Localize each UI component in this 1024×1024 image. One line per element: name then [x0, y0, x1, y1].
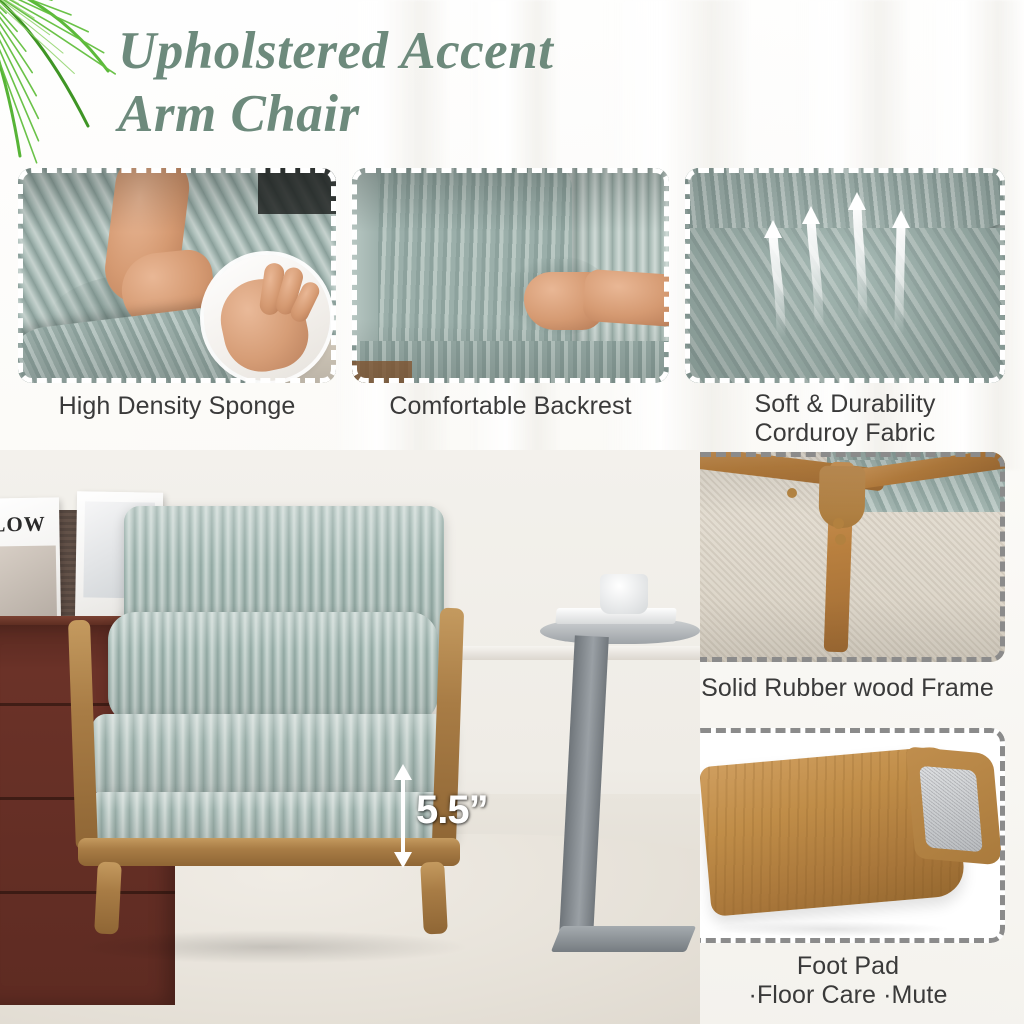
seat-thickness-dimension: 5.5” — [392, 764, 414, 873]
infographic-canvas: Upholstered Accent Arm Chair — [0, 0, 1024, 1024]
airflow-arrows-icon — [685, 168, 1005, 383]
feature-photo-corduroy-fabric — [685, 168, 1005, 383]
caption-corduroy-fabric: Soft & Durability Corduroy Fabric — [685, 390, 1005, 448]
side-table-foot — [551, 926, 697, 952]
chair-leg-front-right — [420, 861, 448, 934]
cup — [600, 574, 648, 614]
photo-content — [687, 452, 1005, 662]
caption-rubber-wood-frame: Solid Rubber wood Frame — [685, 674, 1010, 703]
photo-content — [352, 168, 669, 383]
caption-high-density-sponge: High Density Sponge — [18, 392, 336, 421]
title-line-2: Arm Chair — [118, 83, 838, 146]
photo-content — [18, 168, 336, 383]
page-title: Upholstered Accent Arm Chair — [118, 20, 838, 145]
double-arrow-icon — [392, 764, 414, 868]
hero-room-photo: LOW — [0, 450, 700, 1024]
caption-comfortable-backrest: Comfortable Backrest — [352, 392, 669, 421]
photo-content — [687, 728, 1005, 943]
feature-photo-comfortable-backrest — [352, 168, 669, 383]
dimension-label: 5.5” — [416, 788, 488, 833]
title-line-1: Upholstered Accent — [118, 22, 553, 80]
feature-photo-foot-pad — [687, 728, 1005, 943]
chair-lumbar-pillow — [108, 612, 438, 724]
magazine: LOW — [0, 497, 61, 624]
feature-photo-high-density-sponge — [18, 168, 336, 383]
photo-content — [685, 168, 1005, 383]
felt-foot-pad — [919, 766, 983, 853]
foam-press-inset-circle — [204, 255, 330, 381]
chair-leg-front-left — [94, 861, 122, 934]
caption-foot-pad: Foot Pad ·Floor Care ·Mute — [680, 952, 1016, 1010]
feature-photo-rubber-wood-frame — [687, 452, 1005, 662]
